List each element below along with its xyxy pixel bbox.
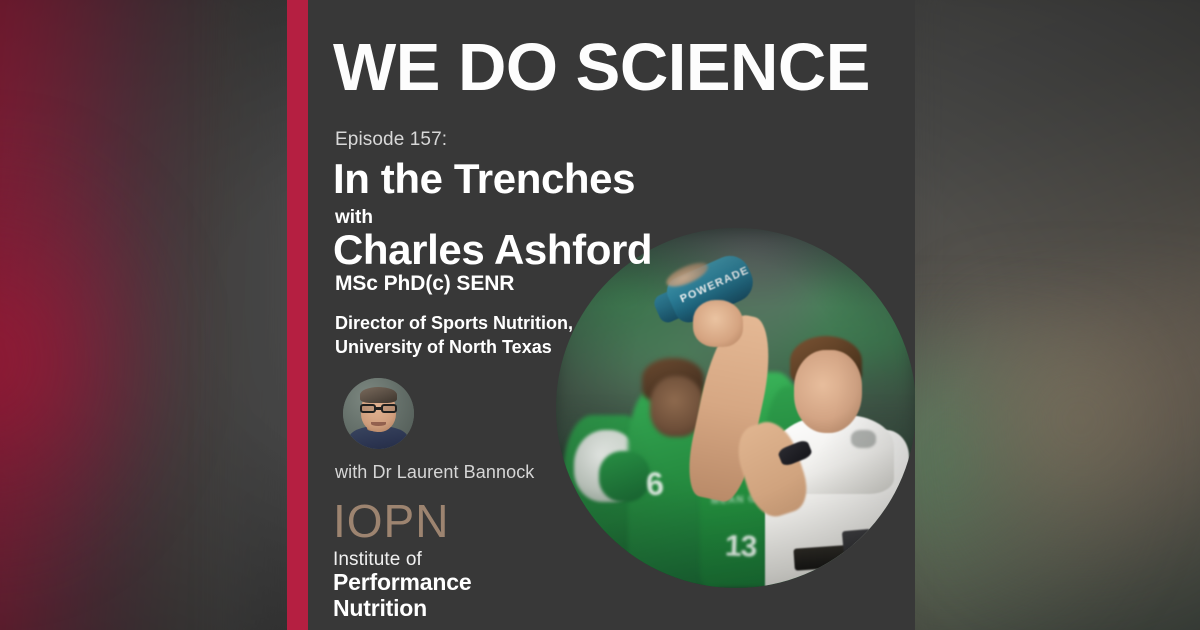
jersey-number: 6	[645, 465, 664, 503]
hero-photo-circle: 6 13 MEAN GREEN MEAN GREEN POWERADE	[556, 228, 915, 588]
guest-role-affiliation: Director of Sports Nutrition, University…	[335, 312, 573, 360]
jersey-number: 13	[725, 530, 758, 565]
iopn-tagline-line1: Institute of	[333, 549, 471, 570]
guest-credentials: MSc PhD(c) SENR	[335, 272, 514, 296]
iopn-tagline-line2: Performance Nutrition	[333, 570, 471, 621]
iopn-logo: IOPN Institute of Performance Nutrition	[333, 498, 471, 621]
coach-head	[794, 350, 862, 433]
avatar-mouth	[371, 422, 385, 426]
radio-device-icon	[842, 529, 875, 582]
eyeglasses-icon	[360, 404, 397, 413]
host-credit: with Dr Laurent Bannock	[335, 462, 534, 483]
glasses-right-lens	[381, 404, 397, 413]
coach-hand	[693, 300, 743, 347]
hero-photo-scene: 6 13 MEAN GREEN MEAN GREEN POWERADE	[556, 228, 915, 588]
polo-logo	[851, 430, 876, 448]
football-helmet-icon	[599, 451, 649, 501]
guest-name: Charles Ashford	[333, 228, 652, 272]
iopn-wordmark: IOPN	[333, 498, 471, 544]
accent-stripe	[287, 0, 308, 630]
podcast-cover-artwork: 6 13 MEAN GREEN MEAN GREEN POWERADE	[0, 0, 1200, 630]
avatar-hair	[360, 387, 397, 403]
glasses-left-lens	[360, 404, 376, 413]
episode-title: In the Trenches	[333, 157, 635, 201]
host-avatar	[343, 378, 414, 449]
cover-card: 6 13 MEAN GREEN MEAN GREEN POWERADE	[308, 0, 915, 630]
episode-number-label: Episode 157:	[335, 129, 447, 151]
show-title: WE DO SCIENCE	[333, 34, 870, 101]
